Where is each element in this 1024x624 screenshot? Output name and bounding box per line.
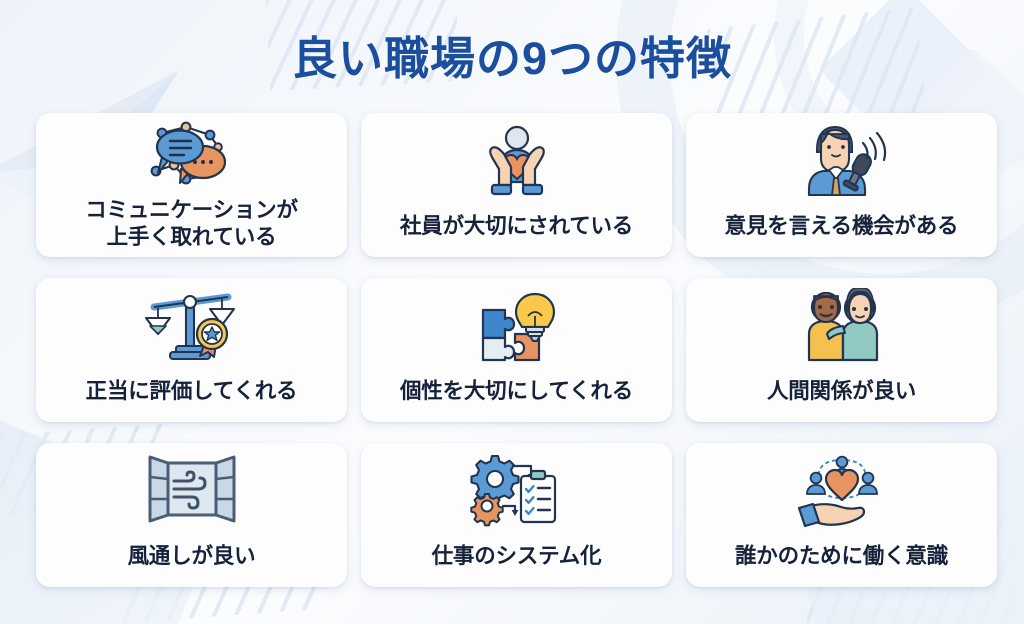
- feature-card-label: 意見を言える機会がある: [717, 200, 967, 257]
- feature-card-label: 仕事のシステム化: [424, 530, 610, 587]
- open-window-breeze-icon: [137, 452, 247, 530]
- two-colleagues-icon: [787, 287, 897, 365]
- feature-card-label: コミュニケーションが 上手く取れている: [77, 194, 306, 257]
- feature-card-relationships[interactable]: 人間関係が良い: [686, 278, 997, 422]
- feature-card-communication[interactable]: コミュニケーションが 上手く取れている: [36, 113, 347, 257]
- feature-card-label: 個性を大切にしてくれる: [392, 365, 641, 422]
- infographic-poster: 良い職場の9つの特徴: [0, 0, 1024, 624]
- feature-card-systemized-work[interactable]: 仕事のシステム化: [361, 443, 672, 587]
- feature-card-label: 社員が大切にされている: [392, 200, 641, 257]
- feature-card-employees-valued[interactable]: 社員が大切にされている: [361, 113, 672, 257]
- puzzle-lightbulb-icon: [462, 287, 572, 365]
- feature-card-purpose-for-others[interactable]: 誰かのために働く意識: [686, 443, 997, 587]
- gears-clipboard-checklist-icon: [462, 452, 572, 530]
- feature-card-fair-evaluation[interactable]: 正当に評価してくれる: [36, 278, 347, 422]
- hands-holding-person-heart-icon: [462, 122, 572, 200]
- feature-card-label: 風通しが良い: [120, 530, 264, 587]
- feature-card-label: 正当に評価してくれる: [78, 365, 306, 422]
- feature-card-open-atmosphere[interactable]: 風通しが良い: [36, 443, 347, 587]
- balance-scale-award-icon: [137, 287, 247, 365]
- feature-card-label: 誰かのために働く意識: [727, 530, 956, 587]
- speech-bubbles-network-icon: [137, 122, 247, 194]
- person-with-microphone-icon: [787, 122, 897, 200]
- feature-card-voice-opinions[interactable]: 意見を言える機会がある: [686, 113, 997, 257]
- hand-heart-people-icon: [787, 452, 897, 530]
- feature-card-grid: コミュニケーションが 上手く取れている 社員が大切にされている: [36, 113, 998, 587]
- page-title: 良い職場の9つの特徴: [0, 22, 1024, 87]
- feature-card-label: 人間関係が良い: [759, 365, 924, 422]
- feature-card-individuality[interactable]: 個性を大切にしてくれる: [361, 278, 672, 422]
